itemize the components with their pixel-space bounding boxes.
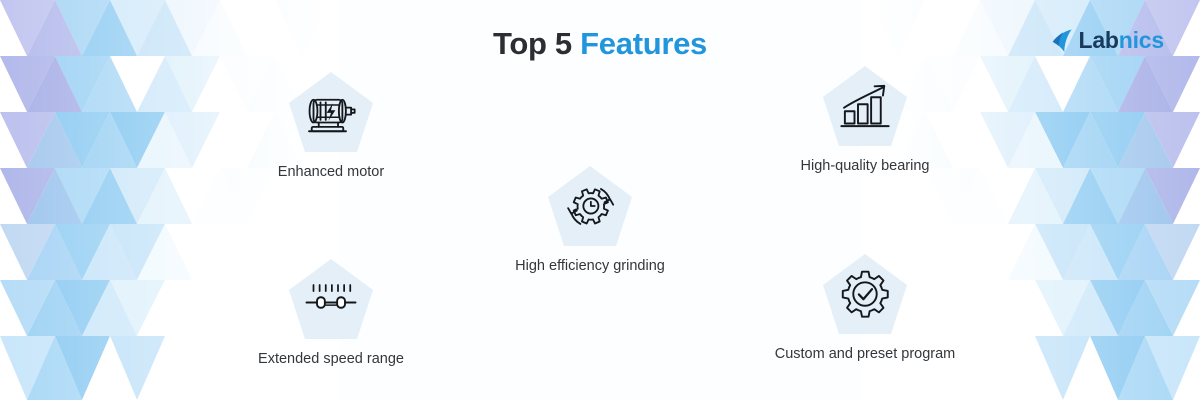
feature-label: Extended speed range [216, 350, 446, 368]
page-title: Top 5 Features [0, 26, 1200, 62]
gear-checkmark-icon [837, 266, 893, 322]
features-banner: Top 5 Features Labnics [0, 0, 1200, 400]
feature-label: Custom and preset program [750, 345, 980, 363]
electric-motor-icon [303, 84, 359, 140]
feature-extended-speed-range[interactable]: Extended speed range [216, 257, 446, 368]
brand-logo-text: Labnics [1078, 29, 1164, 52]
page-title-accent: Features [580, 26, 707, 61]
feature-icon-wrap [821, 252, 909, 336]
feature-icon-wrap [821, 64, 909, 148]
feature-enhanced-motor[interactable]: Enhanced motor [216, 70, 446, 181]
gear-clock-refresh-icon [562, 178, 618, 234]
page-title-primary: Top 5 [493, 26, 580, 61]
chevron-swoosh-icon [1051, 28, 1074, 53]
feature-custom-preset-program[interactable]: Custom and preset program [750, 252, 980, 363]
slider-range-icon [303, 271, 359, 327]
brand-name-blue: nics [1119, 27, 1164, 53]
feature-icon-wrap [546, 164, 634, 248]
feature-label: High efficiency grinding [475, 257, 705, 275]
feature-icon-wrap [287, 70, 375, 154]
feature-label: High-quality bearing [750, 157, 980, 175]
feature-high-quality-bearing[interactable]: High-quality bearing [750, 64, 980, 175]
growth-bar-chart-icon [837, 78, 893, 134]
feature-icon-wrap [287, 257, 375, 341]
brand-logo[interactable]: Labnics [1051, 28, 1164, 53]
brand-name-dark: Lab [1078, 27, 1118, 53]
feature-label: Enhanced motor [216, 163, 446, 181]
feature-high-efficiency-grinding[interactable]: High efficiency grinding [475, 164, 705, 275]
